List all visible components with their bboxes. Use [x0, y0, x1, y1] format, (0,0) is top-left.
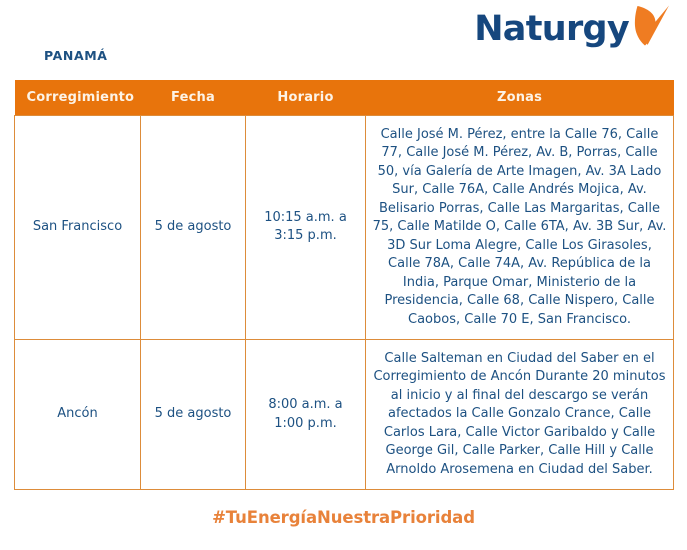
cell-horario: 8:00 a.m. a 1:00 p.m.	[246, 339, 366, 489]
column-header-fecha: Fecha	[141, 80, 246, 116]
page-header: Naturgy PANAMÁ	[0, 0, 687, 80]
brand-wordmark: Naturgy	[474, 12, 629, 47]
naturgy-logo: Naturgy	[474, 6, 673, 52]
table-row: Ancón 5 de agosto 8:00 a.m. a 1:00 p.m. …	[15, 339, 674, 489]
cell-fecha: 5 de agosto	[141, 339, 246, 489]
outage-schedule-table-container: Corregimiento Fecha Horario Zonas San Fr…	[14, 80, 673, 490]
column-header-zonas: Zonas	[366, 80, 674, 116]
column-header-horario: Horario	[246, 80, 366, 116]
cell-zonas: Calle Salteman en Ciudad del Saber en el…	[366, 339, 674, 489]
campaign-hashtag: #TuEnergíaNuestraPrioridad	[212, 508, 475, 527]
table-row: San Francisco 5 de agosto 10:15 a.m. a 3…	[15, 116, 674, 340]
table-header-row: Corregimiento Fecha Horario Zonas	[15, 80, 674, 116]
naturgy-flame-icon	[631, 3, 673, 49]
region-label: PANAMÁ	[44, 48, 108, 63]
table-body: San Francisco 5 de agosto 10:15 a.m. a 3…	[15, 116, 674, 490]
cell-corregimiento: Ancón	[15, 339, 141, 489]
cell-horario: 10:15 a.m. a 3:15 p.m.	[246, 116, 366, 340]
outage-schedule-table: Corregimiento Fecha Horario Zonas San Fr…	[14, 80, 674, 490]
cell-fecha: 5 de agosto	[141, 116, 246, 340]
page-footer: #TuEnergíaNuestraPrioridad	[0, 508, 687, 527]
cell-corregimiento: San Francisco	[15, 116, 141, 340]
column-header-corregimiento: Corregimiento	[15, 80, 141, 116]
cell-zonas: Calle José M. Pérez, entre la Calle 76, …	[366, 116, 674, 340]
